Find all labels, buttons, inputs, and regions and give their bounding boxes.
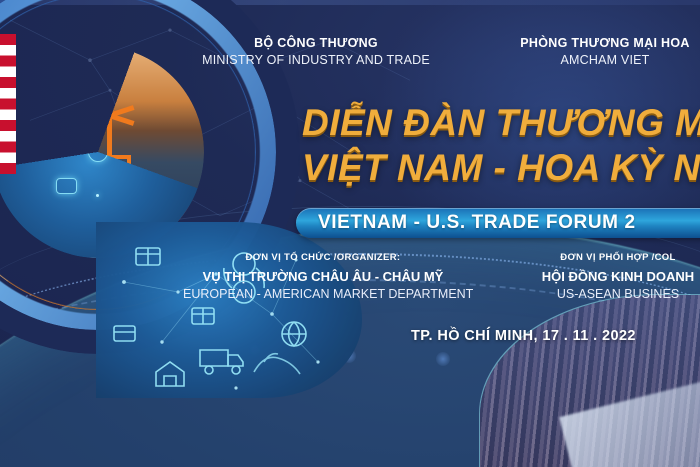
event-title-line2: VIỆT NAM - HOA KỲ NĂM (302, 145, 700, 190)
parcel-icon (114, 326, 135, 341)
ministry-block: BỘ CÔNG THƯƠNG MINISTRY OF INDUSTRY AND … (191, 36, 441, 67)
ministry-name-en: MINISTRY OF INDUSTRY AND TRADE (191, 53, 441, 67)
organizer-block: ĐƠN VỊ TỔ CHỨC /ORGANIZER: VỤ THỊ TRƯỜNG… (183, 252, 463, 301)
parcel-box-icon (56, 178, 77, 194)
amcham-block: PHÒNG THƯƠNG MẠI HOA AMCHAM VIET (480, 36, 700, 67)
coorganizer-name-vn: HỘI ĐỒNG KINH DOANH (478, 269, 700, 284)
parcel-box-icon (48, 104, 70, 121)
warehouse-icon (156, 362, 184, 386)
network-node (436, 352, 450, 366)
organizer-name-en: EUROPEAN - AMERICAN MARKET DEPARTMENT (183, 287, 463, 301)
coorganizer-kicker: ĐƠN VỊ PHỐI HỢP /COL (478, 252, 700, 263)
amcham-name-en: AMCHAM VIET (480, 53, 700, 67)
global-network-icon (282, 322, 306, 346)
header-organizations: BỘ CÔNG THƯƠNG MINISTRY OF INDUSTRY AND … (0, 36, 700, 88)
event-title-line1: DIỄN ĐÀN THƯƠNG MẠ (302, 102, 700, 143)
coorganizer-name-en: US-ASEAN BUSINES (478, 287, 700, 301)
english-title-text: VIETNAM - U.S. TRADE FORUM 2 (296, 212, 636, 234)
organizer-name-vn: VỤ THỊ TRƯỜNG CHÂU ÂU - CHÂU MỸ (183, 269, 463, 284)
amcham-name-vn: PHÒNG THƯƠNG MẠI HOA (480, 36, 700, 50)
organizer-section: ĐƠN VỊ TỔ CHỨC /ORGANIZER: VỤ THỊ TRƯỜNG… (0, 252, 700, 312)
event-title: DIỄN ĐÀN THƯƠNG MẠ VIỆT NAM - HOA KỲ NĂM (302, 100, 700, 190)
cityscape-photo (480, 295, 700, 467)
coorganizer-block: ĐƠN VỊ PHỐI HỢP /COL HỘI ĐỒNG KINH DOANH… (478, 252, 700, 301)
ministry-name-vn: BỘ CÔNG THƯƠNG (191, 36, 441, 50)
english-title-ribbon: VIETNAM - U.S. TRADE FORUM 2 (296, 208, 700, 238)
organizer-kicker: ĐƠN VỊ TỔ CHỨC /ORGANIZER: (183, 252, 463, 263)
delivery-truck-icon (200, 350, 243, 374)
hand-gesture-icon (254, 354, 300, 374)
coin-icon (88, 142, 108, 162)
poster-banner: BỘ CÔNG THƯƠNG MINISTRY OF INDUSTRY AND … (0, 0, 700, 467)
event-date-location: TP. HỒ CHÍ MINH, 17 . 11 . 2022 (411, 328, 636, 344)
